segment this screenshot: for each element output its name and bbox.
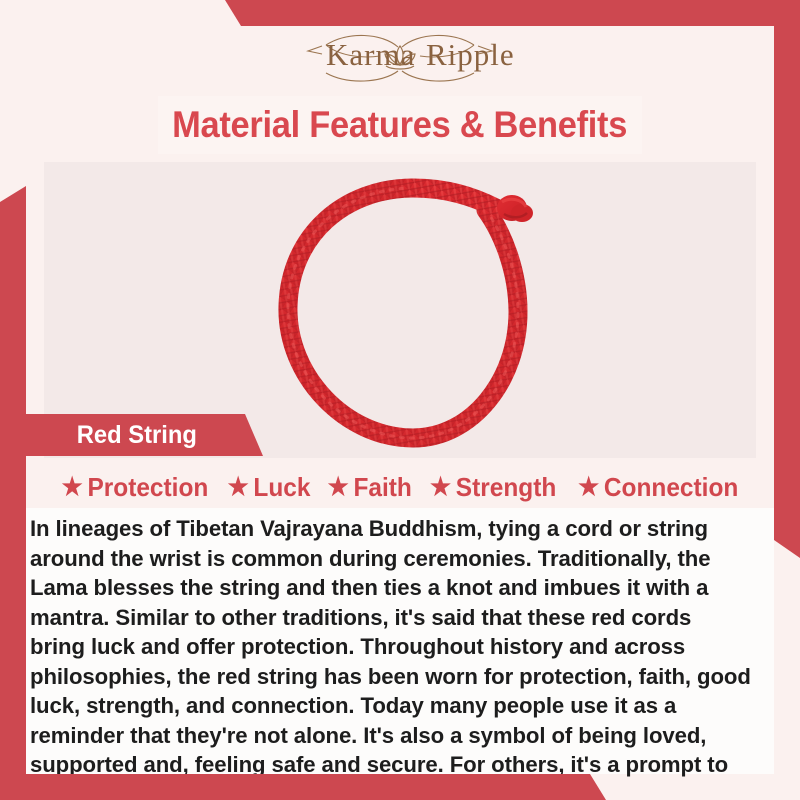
- decor-frame-top: [0, 0, 800, 26]
- benefit-item: ★ Protection: [58, 472, 212, 503]
- title-band: Material Features & Benefits: [158, 96, 642, 154]
- decor-frame-left: [0, 186, 26, 800]
- star-icon: ★: [578, 475, 599, 500]
- product-name-banner: Red String: [20, 414, 263, 456]
- benefit-item: ★ Connection: [574, 472, 742, 503]
- star-icon: ★: [430, 475, 451, 500]
- benefit-label: Strength: [456, 472, 556, 503]
- benefit-label: Protection: [87, 472, 208, 503]
- description-text: In lineages of Tibetan Vajrayana Buddhis…: [30, 514, 751, 800]
- benefit-item: ★ Strength: [427, 472, 561, 503]
- product-name-label: Red String: [25, 421, 197, 450]
- brand-logo-svg: Karma Ripple: [230, 29, 570, 89]
- benefits-row: ★ Protection ★ Luck ★ Faith ★ Strength ★…: [26, 466, 774, 508]
- page-title: Material Features & Benefits: [173, 104, 628, 146]
- decor-frame-right: [774, 0, 800, 558]
- benefit-item: ★ Luck: [224, 472, 314, 503]
- brand-name-right: Ripple: [426, 37, 515, 72]
- brand-logo: Karma Ripple: [0, 28, 800, 90]
- star-icon: ★: [227, 475, 248, 500]
- benefit-item: ★ Faith: [324, 472, 416, 503]
- brand-name-left: Karma: [326, 37, 415, 72]
- benefit-label: Connection: [604, 472, 738, 503]
- benefit-label: Luck: [253, 472, 310, 503]
- star-icon: ★: [328, 475, 349, 500]
- infographic-page: Karma Ripple Material Features & Benefit…: [0, 0, 800, 800]
- description-panel: In lineages of Tibetan Vajrayana Buddhis…: [26, 508, 774, 774]
- bracelet-knot: [497, 195, 533, 222]
- product-image-red-string-bracelet: [250, 166, 570, 458]
- star-icon: ★: [61, 475, 82, 500]
- benefit-label: Faith: [353, 472, 411, 503]
